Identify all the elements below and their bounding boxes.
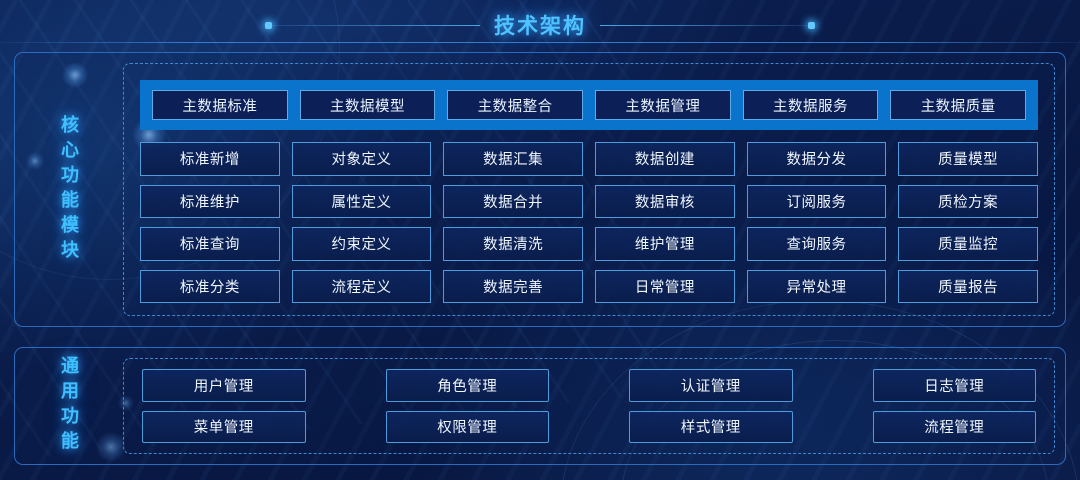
core-module-cell[interactable]: 数据合并 <box>443 185 583 219</box>
general-panel-label-text: 通用功能 <box>56 356 82 456</box>
title-rule-right <box>600 25 812 26</box>
core-panel-label: 核心功能模块 <box>15 53 123 326</box>
title-dot-right-icon <box>808 22 815 29</box>
general-module-cell[interactable]: 流程管理 <box>873 411 1037 444</box>
general-panel-label: 通用功能 <box>15 348 123 464</box>
general-module-cell[interactable]: 日志管理 <box>873 369 1037 402</box>
core-header-item[interactable]: 主数据质量 <box>890 90 1026 120</box>
core-header-item[interactable]: 主数据标准 <box>152 90 288 120</box>
core-module-cell[interactable]: 流程定义 <box>292 270 432 304</box>
core-module-cell[interactable]: 约束定义 <box>292 227 432 261</box>
core-module-cell[interactable]: 订阅服务 <box>747 185 887 219</box>
core-module-cell[interactable]: 数据创建 <box>595 142 735 176</box>
core-panel-inner-frame: 主数据标准主数据模型主数据整合主数据管理主数据服务主数据质量 标准新增对象定义数… <box>123 63 1055 316</box>
core-module-cell[interactable]: 标准新增 <box>140 142 280 176</box>
general-module-cell[interactable]: 认证管理 <box>629 369 793 402</box>
core-module-cell[interactable]: 数据分发 <box>747 142 887 176</box>
core-module-cell[interactable]: 标准查询 <box>140 227 280 261</box>
core-module-cell[interactable]: 日常管理 <box>595 270 735 304</box>
general-module-cell[interactable]: 角色管理 <box>386 369 550 402</box>
general-panel-inner-frame: 用户管理角色管理认证管理日志管理菜单管理权限管理样式管理流程管理 <box>123 358 1055 454</box>
general-module-grid: 用户管理角色管理认证管理日志管理菜单管理权限管理样式管理流程管理 <box>142 369 1036 443</box>
title-rule-left <box>268 25 480 26</box>
core-module-cell[interactable]: 标准分类 <box>140 270 280 304</box>
core-module-cell[interactable]: 数据汇集 <box>443 142 583 176</box>
core-module-cell[interactable]: 数据审核 <box>595 185 735 219</box>
architecture-diagram: 技术架构 核心功能模块 主数据标准主数据模型主数据整合主数据管理主数据服务主数据… <box>0 0 1080 480</box>
core-panel-label-text: 核心功能模块 <box>56 115 82 265</box>
core-header-item[interactable]: 主数据管理 <box>595 90 731 120</box>
core-header-bar: 主数据标准主数据模型主数据整合主数据管理主数据服务主数据质量 <box>140 80 1038 130</box>
core-header-item[interactable]: 主数据整合 <box>447 90 583 120</box>
core-module-grid: 标准新增对象定义数据汇集数据创建数据分发质量模型标准维护属性定义数据合并数据审核… <box>140 142 1038 303</box>
core-module-cell[interactable]: 质量模型 <box>898 142 1038 176</box>
core-module-cell[interactable]: 属性定义 <box>292 185 432 219</box>
core-module-cell[interactable]: 标准维护 <box>140 185 280 219</box>
core-module-cell[interactable]: 异常处理 <box>747 270 887 304</box>
core-module-cell[interactable]: 查询服务 <box>747 227 887 261</box>
core-header-item[interactable]: 主数据服务 <box>743 90 879 120</box>
core-module-cell[interactable]: 质检方案 <box>898 185 1038 219</box>
general-module-cell[interactable]: 菜单管理 <box>142 411 306 444</box>
general-module-cell[interactable]: 权限管理 <box>386 411 550 444</box>
core-module-cell[interactable]: 质量监控 <box>898 227 1038 261</box>
core-module-cell[interactable]: 质量报告 <box>898 270 1038 304</box>
title-dot-left-icon <box>265 22 272 29</box>
core-module-cell[interactable]: 数据完善 <box>443 270 583 304</box>
title-divider <box>0 42 1080 43</box>
general-function-panel: 通用功能 用户管理角色管理认证管理日志管理菜单管理权限管理样式管理流程管理 <box>14 347 1066 465</box>
core-function-panel: 核心功能模块 主数据标准主数据模型主数据整合主数据管理主数据服务主数据质量 标准… <box>14 52 1066 327</box>
general-module-cell[interactable]: 样式管理 <box>629 411 793 444</box>
core-module-cell[interactable]: 数据清洗 <box>443 227 583 261</box>
core-module-cell[interactable]: 对象定义 <box>292 142 432 176</box>
page-title: 技术架构 <box>494 10 586 40</box>
diagram-title-row: 技术架构 <box>0 8 1080 42</box>
core-module-cell[interactable]: 维护管理 <box>595 227 735 261</box>
core-header-item[interactable]: 主数据模型 <box>300 90 436 120</box>
general-module-cell[interactable]: 用户管理 <box>142 369 306 402</box>
